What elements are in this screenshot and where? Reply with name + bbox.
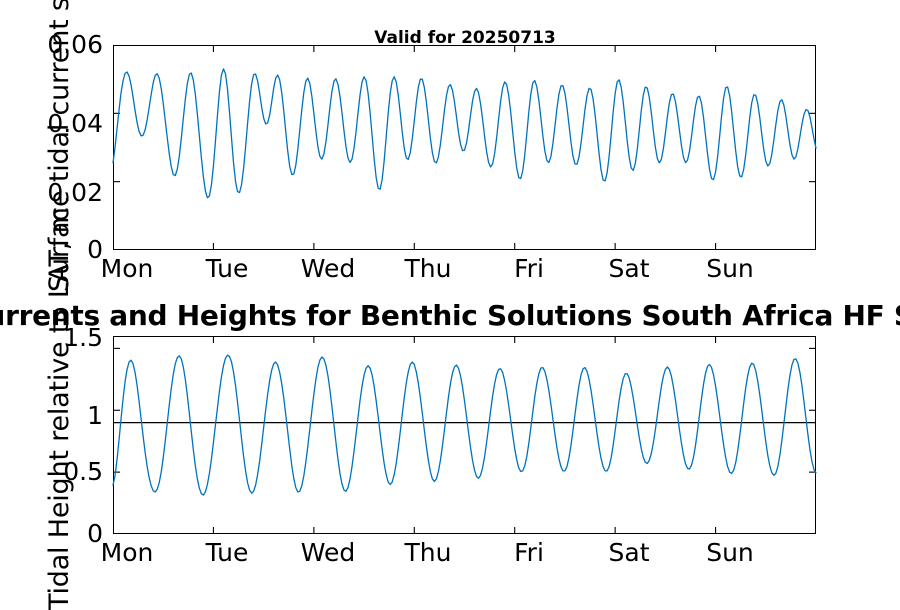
x-tick-label-fri: Fri xyxy=(514,540,544,565)
x-tick-label-tue: Tue xyxy=(206,540,249,565)
x-tick-label-wed: Wed xyxy=(301,256,356,281)
figure-main-title: Tidal Currents and Heights for Benthic S… xyxy=(0,299,900,332)
current-speed-line xyxy=(113,69,816,198)
x-tick-label-thu: Thu xyxy=(405,540,452,565)
x-tick-label-sat: Sat xyxy=(609,540,650,565)
x-tick-label-mon: Mon xyxy=(101,540,154,565)
plot-area-tidal-height[interactable] xyxy=(113,336,816,534)
x-tick-label-mon: Mon xyxy=(101,256,154,281)
x-tick-label-thu: Thu xyxy=(405,256,452,281)
plot-area-current-speed[interactable] xyxy=(113,45,816,250)
y-tick-label: 0.04 xyxy=(47,111,103,136)
x-tick-label-tue: Tue xyxy=(206,256,249,281)
y-tick-label: 1.5 xyxy=(63,325,103,350)
x-tick-label-fri: Fri xyxy=(514,256,544,281)
y-tick-label: 0.5 xyxy=(63,459,103,484)
x-tick-label-sun: Sun xyxy=(706,540,754,565)
x-tick-label-sun: Sun xyxy=(706,256,754,281)
x-tick-label-sat: Sat xyxy=(609,256,650,281)
current-speed-svg xyxy=(113,45,816,250)
y-tick-label: 1 xyxy=(87,403,103,428)
x-tick-label-wed: Wed xyxy=(301,540,356,565)
tidal-height-svg xyxy=(113,336,816,534)
tidal-height-line xyxy=(113,355,816,495)
axis-ticks-top xyxy=(113,45,816,250)
y-tick-label: 0.02 xyxy=(47,180,103,205)
y-axis-label-tidal-height: Tidal Height relative to LAT, m xyxy=(44,207,75,610)
y-tick-label: 0.06 xyxy=(47,32,103,57)
figure-canvas: Surface tidal current speed, kn Valid fo… xyxy=(0,0,900,600)
